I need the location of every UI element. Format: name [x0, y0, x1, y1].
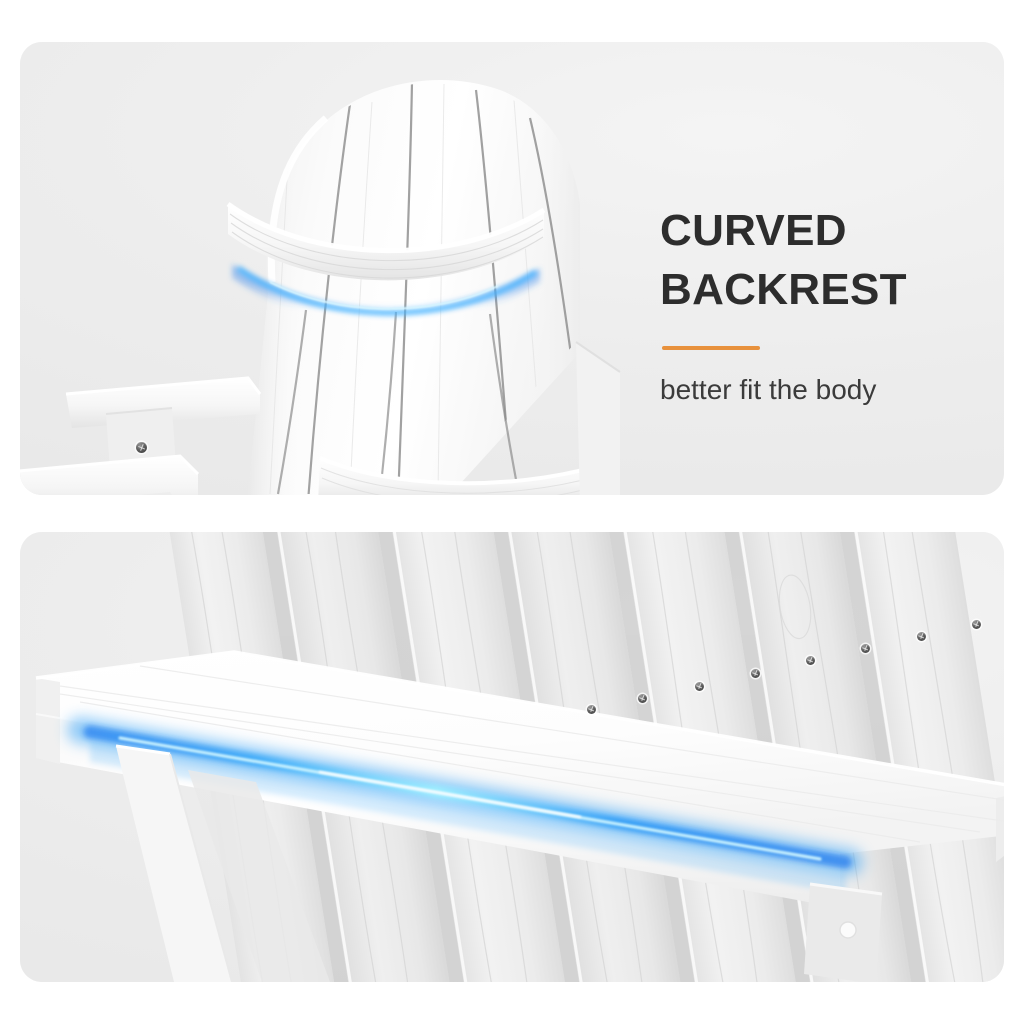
- feature-panel-curved-backrest: CURVED BACKREST better fit the body: [20, 42, 1004, 495]
- armrest-illustration: [20, 532, 1004, 982]
- feature-panel-wide-armrests: WIDE ARMRESTS for better arm relaxation: [20, 532, 1004, 982]
- panel-headline-line2: BACKREST: [660, 261, 907, 320]
- feature-text-curved-backrest: CURVED BACKREST better fit the body: [660, 202, 907, 406]
- chair-left-armrests: [20, 378, 260, 495]
- panel-headline-line1: CURVED: [660, 202, 907, 261]
- chair-right-leg: [576, 342, 620, 495]
- screw-icon: [638, 694, 647, 703]
- screw-icon: [695, 682, 704, 691]
- screw-icon: [972, 620, 981, 629]
- armrest-support-bracket: [804, 884, 882, 982]
- accent-divider: [662, 346, 760, 350]
- screw-icon: [806, 656, 815, 665]
- screw-icon: [917, 632, 926, 641]
- panel-subtitle: better fit the body: [660, 374, 907, 406]
- infographic-canvas: CURVED BACKREST better fit the body: [0, 0, 1024, 1024]
- backrest-fan: [248, 80, 586, 495]
- screw-icon: [136, 442, 147, 453]
- screw-icon: [751, 669, 760, 678]
- screw-icon: [587, 705, 596, 714]
- product-image-wide-armrests: [20, 532, 1004, 982]
- screw-icon: [861, 644, 870, 653]
